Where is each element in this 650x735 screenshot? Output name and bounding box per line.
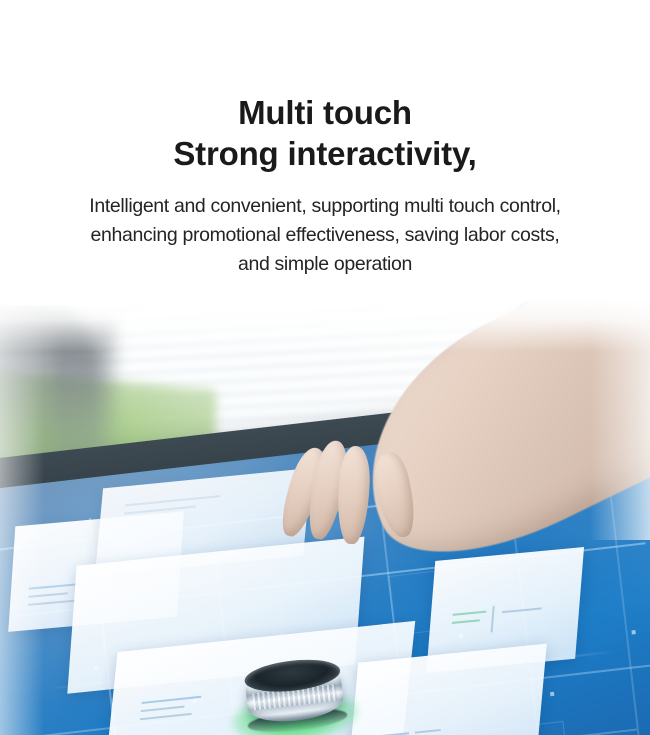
body-copy: Intelligent and convenient, supporting m… <box>0 192 650 279</box>
feature-photo <box>0 300 650 735</box>
headline-line-1: Multi touch <box>0 92 650 133</box>
tangible-control-puck[interactable] <box>237 654 355 735</box>
headline-line-2: Strong interactivity, <box>0 133 650 174</box>
page-title: Multi touch Strong interactivity, <box>0 92 650 174</box>
body-line-3: and simple operation <box>0 250 650 279</box>
text-block: Multi touch Strong interactivity, Intell… <box>0 0 650 305</box>
body-line-1: Intelligent and convenient, supporting m… <box>0 192 650 221</box>
body-line-2: enhancing promotional effectiveness, sav… <box>0 221 650 250</box>
product-feature-section: Multi touch Strong interactivity, Intell… <box>0 0 650 735</box>
